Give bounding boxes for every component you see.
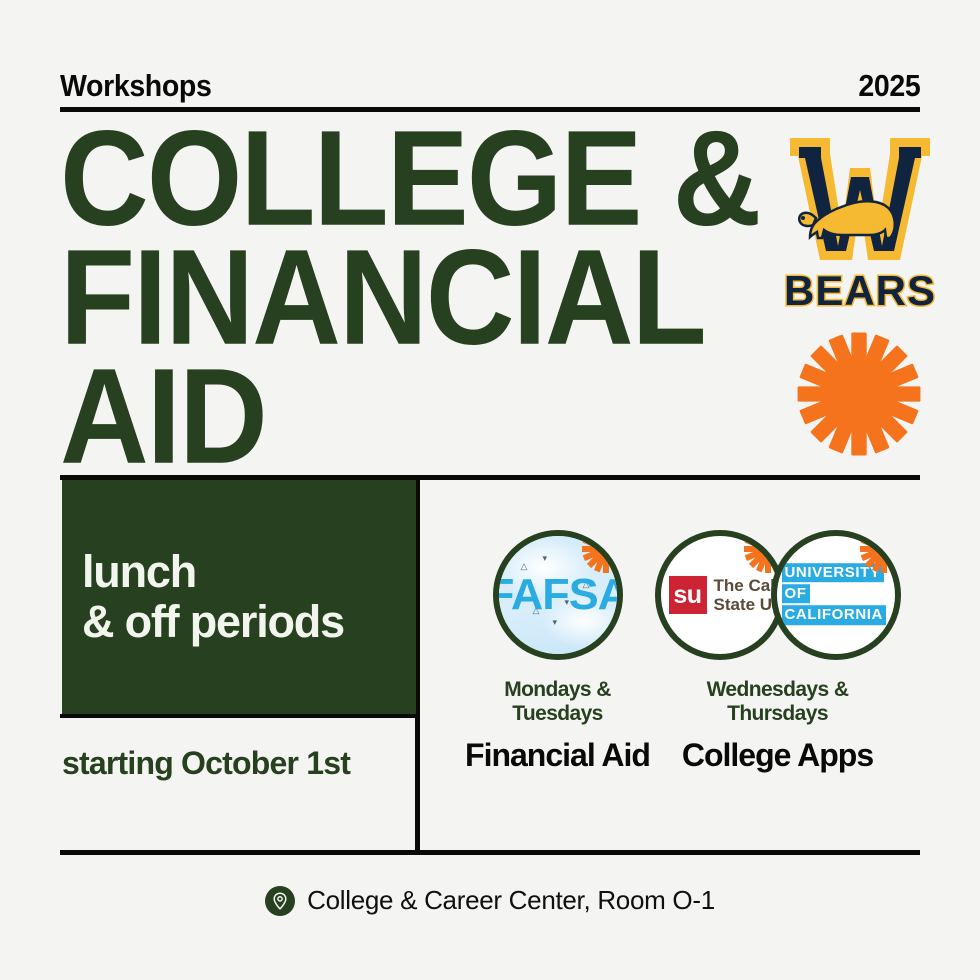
title-line-2: FINANCIAL xyxy=(60,243,732,354)
starburst-icon xyxy=(859,530,901,574)
csu-mark: su xyxy=(669,576,707,614)
bear-w-icon xyxy=(772,134,948,266)
starburst-icon xyxy=(743,530,785,574)
csu-lockup: su The Californ State Univer xyxy=(669,576,785,614)
starburst-glyph xyxy=(859,530,901,574)
uc-logo: UNIVERSITY OF CALIFORNIA xyxy=(771,530,901,660)
schedule-panel-line-1: lunch xyxy=(82,547,416,597)
start-date-note: starting October 1st xyxy=(62,745,350,782)
starburst-glyph xyxy=(743,530,785,574)
divider-mid-left xyxy=(60,714,416,718)
starburst-glyph xyxy=(795,330,923,458)
uc-wordmark-line-2: OF xyxy=(782,584,810,603)
csu-logo: su The Californ State Univer xyxy=(655,530,785,660)
card-financial-aid[interactable]: △ ▾ ▾ △ ▾ △ FAFSA xyxy=(450,530,665,774)
card-days-line-1: Wednesdays & xyxy=(645,678,910,702)
fafsa-logo: △ ▾ ▾ △ ▾ △ FAFSA xyxy=(493,530,623,660)
title-line-1: COLLEGE & xyxy=(60,124,732,235)
starburst-icon xyxy=(795,330,923,458)
card-days-line-2: Thursdays xyxy=(645,702,910,726)
location-pin-glyph xyxy=(272,892,288,910)
card-logos-financial-aid: △ ▾ ▾ △ ▾ △ FAFSA xyxy=(450,530,665,660)
card-days-college-apps: Wednesdays & Thursdays xyxy=(645,678,910,725)
card-logos-college-apps: su The Californ State Univer xyxy=(645,530,910,660)
footer-location: College & Career Center, Room O-1 xyxy=(0,885,980,916)
card-days-financial-aid: Mondays & Tuesdays xyxy=(450,678,665,725)
schedule-panel: lunch & off periods xyxy=(62,480,416,714)
divider-bottom xyxy=(60,850,920,855)
header-year: 2025 xyxy=(858,70,920,101)
uc-wordmark-line-3: CALIFORNIA xyxy=(782,606,887,625)
card-college-apps[interactable]: su The Californ State Univer xyxy=(645,530,910,774)
location-pin-icon xyxy=(265,886,295,916)
card-days-line-1: Mondays & xyxy=(450,678,665,702)
fafsa-wordmark: FAFSA xyxy=(493,570,623,620)
w-bears-logo: BEARS xyxy=(772,134,948,312)
page-title: COLLEGE & FINANCIAL AID xyxy=(60,124,760,481)
poster-canvas: Workshops 2025 COLLEGE & FINANCIAL AID B… xyxy=(0,0,980,980)
starburst-glyph xyxy=(581,530,623,574)
schedule-panel-line-2: & off periods xyxy=(82,597,416,647)
bird-icon: ▾ xyxy=(543,554,548,563)
title-line-3: AID xyxy=(60,362,732,473)
header-kicker: Workshops xyxy=(60,70,211,101)
bears-wordmark: BEARS xyxy=(772,270,948,312)
card-days-line-2: Tuesdays xyxy=(450,702,665,726)
workshop-cards: △ ▾ ▾ △ ▾ △ FAFSA xyxy=(420,480,920,850)
footer-location-text: College & Career Center, Room O-1 xyxy=(307,885,715,916)
starburst-icon xyxy=(581,530,623,574)
card-title-college-apps: College Apps xyxy=(645,737,910,774)
card-title-financial-aid: Financial Aid xyxy=(450,737,665,774)
